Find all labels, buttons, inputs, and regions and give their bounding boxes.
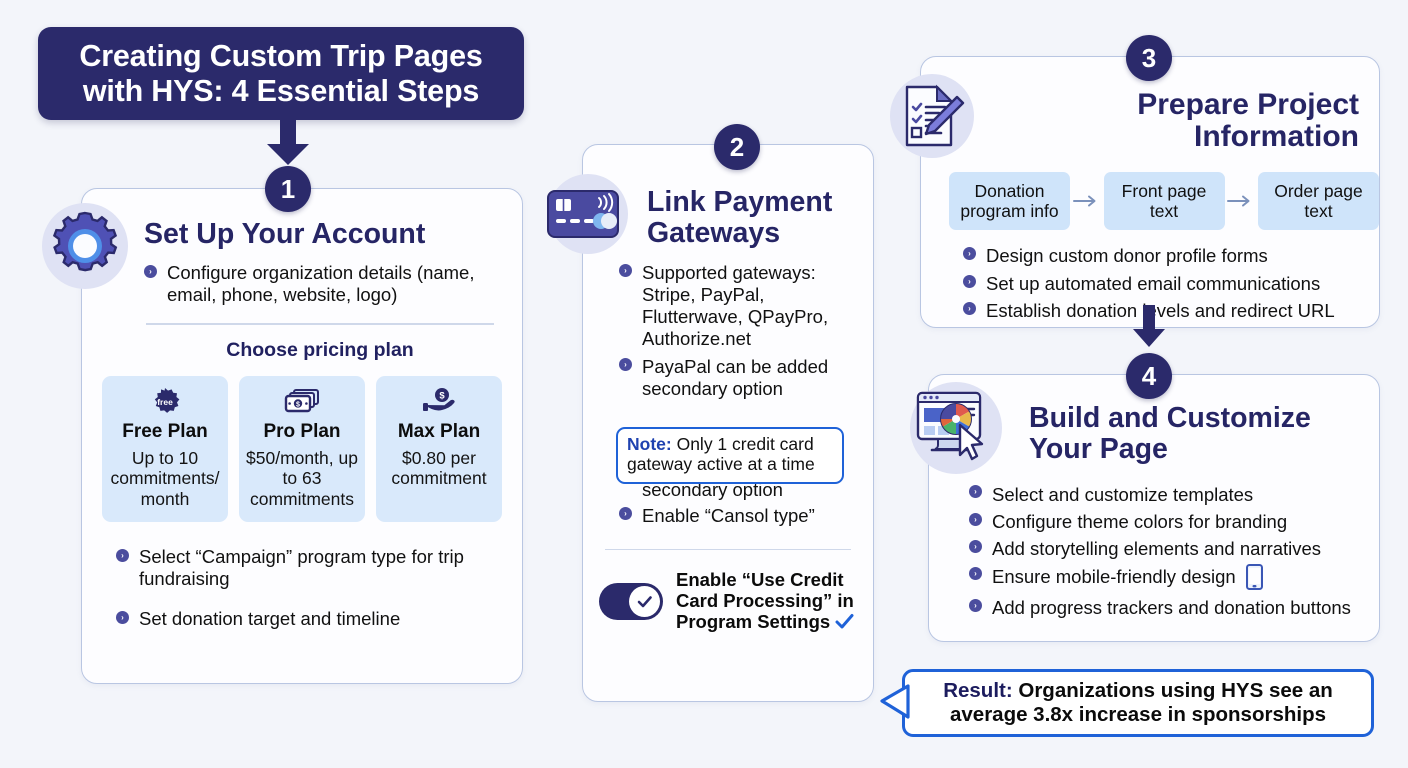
note-box: Note: Only 1 credit card gateway active … bbox=[616, 427, 844, 484]
step-4-title-line-1: Build and Customize bbox=[1029, 402, 1311, 434]
list-item: › Supported gateways: Stripe, PayPal, Fl… bbox=[619, 262, 861, 350]
bullet-chevron-icon: › bbox=[969, 599, 982, 612]
infographic-root: Creating Custom Trip Pages with HYS: 4 E… bbox=[0, 0, 1408, 768]
bullet-chevron-icon: › bbox=[969, 485, 982, 498]
bullet-text: Add storytelling elements and narratives bbox=[992, 538, 1321, 559]
title-line-1: Creating Custom Trip Pages bbox=[79, 39, 482, 73]
step-3-number-badge: 3 bbox=[1126, 35, 1172, 81]
list-item: › Set donation target and timeline bbox=[116, 608, 492, 630]
plan-desc: $0.80 per commitment bbox=[380, 448, 498, 489]
bullet-text: Design custom donor profile forms bbox=[986, 245, 1268, 266]
list-item: › Enable “Cansol type” bbox=[619, 505, 861, 527]
list-item: › Design custom donor profile forms bbox=[963, 244, 1363, 268]
step-1-card: Set Up Your Account › Configure organiza… bbox=[81, 188, 523, 684]
mobile-phone-icon bbox=[1246, 564, 1263, 590]
bullet-text: PayaPal can be added secondary option bbox=[642, 356, 828, 399]
bullet-chevron-icon: › bbox=[116, 549, 129, 562]
bullet-chevron-icon: › bbox=[963, 302, 976, 315]
step-3-title: Prepare Project Information bbox=[987, 89, 1359, 154]
toggle-label: Enable “Use Credit Card Processing” in P… bbox=[676, 570, 854, 633]
step-2-card: Link Payment Gateways › Supported gatewa… bbox=[582, 144, 874, 702]
plan-desc: Up to 10 commitments/ month bbox=[106, 448, 224, 509]
step-2-number: 2 bbox=[730, 132, 744, 163]
step-1-number-badge: 1 bbox=[265, 166, 311, 212]
list-item: › Add progress trackers and donation but… bbox=[969, 596, 1365, 620]
step-3-to-4-down-arrow-icon bbox=[1131, 305, 1167, 349]
title-down-arrow-icon bbox=[263, 118, 313, 166]
step-4-title-line-2: Your Page bbox=[1029, 433, 1168, 465]
gear-icon bbox=[42, 203, 128, 289]
note-text: Note: Only 1 credit card gateway active … bbox=[627, 435, 833, 475]
list-item: › Select “Campaign” program type for tri… bbox=[116, 546, 492, 590]
title-line-2: with HYS: 4 Essential Steps bbox=[83, 74, 479, 108]
bullet-text: Select and customize templates bbox=[992, 484, 1253, 505]
bullet-text: Supported gateways: Stripe, PayPal, Flut… bbox=[642, 262, 828, 349]
list-item: › Set up automated email communications bbox=[963, 272, 1363, 296]
step-3-number: 3 bbox=[1142, 43, 1156, 74]
plan-card-free[interactable]: free Free Plan Up to 10 commitments/ mon… bbox=[102, 376, 228, 522]
bullet-text: Enable “Cansol type” bbox=[642, 505, 815, 526]
plan-name: Free Plan bbox=[106, 421, 224, 443]
chip-donation-program-info[interactable]: Donation program info bbox=[949, 172, 1070, 231]
step-1-footer-bullets: › Select “Campaign” program type for tri… bbox=[116, 546, 492, 631]
bullet-text: Select “Campaign” program type for trip … bbox=[139, 546, 464, 589]
result-banner-tail-icon bbox=[880, 684, 910, 724]
chip-label: Donation program info bbox=[960, 181, 1058, 221]
step-2-top-bullets: › Supported gateways: Stripe, PayPal, Fl… bbox=[619, 262, 861, 400]
flow-arrow-2-icon bbox=[1225, 194, 1259, 208]
step-1-title: Set Up Your Account bbox=[144, 219, 496, 250]
plan-desc: $50/month, up to 63 commitments bbox=[243, 448, 361, 509]
bullet-chevron-icon: › bbox=[619, 358, 632, 371]
bullet-text: Ensure mobile-friendly design bbox=[992, 566, 1236, 587]
bullet-chevron-icon: › bbox=[963, 275, 976, 288]
step-1-divider-top bbox=[146, 323, 494, 325]
bullet-chevron-icon: › bbox=[619, 264, 632, 277]
bullet-text: Configure organization details (name, em… bbox=[167, 262, 474, 305]
plan-card-pro[interactable]: $ Pro Plan $50/month, up to 63 commitmen… bbox=[239, 376, 365, 522]
bullet-chevron-icon: › bbox=[969, 540, 982, 553]
list-item: › Ensure mobile-friendly design bbox=[969, 564, 1365, 590]
bullet-text: Set up automated email communications bbox=[986, 273, 1320, 294]
chip-label: Order page text bbox=[1274, 181, 1363, 221]
bullet-chevron-icon: › bbox=[969, 513, 982, 526]
plan-name: Pro Plan bbox=[243, 421, 361, 443]
svg-text:$: $ bbox=[439, 390, 445, 401]
step-1-number: 1 bbox=[281, 174, 295, 205]
monitor-chart-cursor-icon bbox=[910, 382, 1002, 474]
step-3-card: Prepare Project Information Donation pro… bbox=[920, 56, 1380, 328]
step-2-title: Link Payment Gateways bbox=[647, 187, 859, 249]
bullet-chevron-icon: › bbox=[963, 247, 976, 260]
step-1-intro-bullets: › Configure organization details (name, … bbox=[144, 262, 496, 306]
step-4-number-badge: 4 bbox=[1126, 353, 1172, 399]
list-item: › Configure theme colors for branding bbox=[969, 510, 1365, 534]
result-text: Result: Organizations using HYS see an a… bbox=[917, 679, 1359, 726]
step-4-bullets: › Select and customize templates › Confi… bbox=[969, 483, 1365, 620]
step-2-number-badge: 2 bbox=[714, 124, 760, 170]
result-banner: Result: Organizations using HYS see an a… bbox=[902, 669, 1374, 737]
hand-dollar-icon: $ bbox=[380, 386, 498, 418]
credit-card-icon bbox=[548, 174, 628, 254]
checklist-pencil-icon bbox=[890, 74, 974, 158]
pricing-plans: free Free Plan Up to 10 commitments/ mon… bbox=[102, 376, 502, 522]
free-badge-icon: free bbox=[106, 386, 224, 418]
step-2-divider bbox=[605, 549, 851, 551]
title-banner: Creating Custom Trip Pages with HYS: 4 E… bbox=[38, 27, 524, 120]
bullet-chevron-icon: › bbox=[116, 611, 129, 624]
result-label: Result: bbox=[943, 679, 1012, 702]
list-item: › Add storytelling elements and narrativ… bbox=[969, 537, 1365, 561]
bullet-text: Set donation target and timeline bbox=[139, 608, 400, 629]
toggle-label-line-2: Card Processing” in bbox=[676, 590, 854, 611]
step-3-flow-chips: Donation program info Front page text Or… bbox=[949, 172, 1379, 231]
bullet-text: Add progress trackers and donation butto… bbox=[992, 597, 1351, 618]
step-2-title-line-1: Link Payment bbox=[647, 186, 832, 218]
svg-text:free: free bbox=[157, 397, 173, 407]
pricing-plan-label: Choose pricing plan bbox=[144, 339, 496, 362]
page-title: Creating Custom Trip Pages with HYS: 4 E… bbox=[79, 39, 482, 108]
note-label: Note: bbox=[627, 434, 672, 454]
toggle-label-line-1: Enable “Use Credit bbox=[676, 569, 844, 590]
step-2-title-line-2: Gateways bbox=[647, 217, 780, 249]
money-bills-icon: $ bbox=[243, 386, 361, 418]
toggle-label-line-3: Program Settings bbox=[676, 611, 830, 632]
list-item: › Select and customize templates bbox=[969, 483, 1365, 507]
svg-text:$: $ bbox=[296, 401, 300, 408]
credit-card-processing-toggle[interactable] bbox=[599, 583, 663, 620]
bullet-chevron-icon: › bbox=[969, 567, 982, 580]
bullet-chevron-icon: › bbox=[144, 265, 157, 278]
toggle-check-icon bbox=[629, 586, 660, 617]
bullet-chevron-icon: › bbox=[619, 507, 632, 520]
list-item: › Configure organization details (name, … bbox=[144, 262, 496, 306]
plan-card-max[interactable]: $ Max Plan $0.80 per commitment bbox=[376, 376, 502, 522]
chip-front-page-text[interactable]: Front page text bbox=[1104, 172, 1225, 231]
bullet-text: Configure theme colors for branding bbox=[992, 511, 1287, 532]
chip-order-page-text[interactable]: Order page text bbox=[1258, 172, 1379, 231]
check-icon bbox=[835, 613, 854, 630]
chip-label: Front page text bbox=[1122, 181, 1207, 221]
step-4-title: Build and Customize Your Page bbox=[1029, 403, 1363, 465]
list-item: › PayaPal can be added secondary option bbox=[619, 356, 861, 400]
flow-arrow-1-icon bbox=[1070, 194, 1104, 208]
plan-name: Max Plan bbox=[380, 421, 498, 443]
step-4-number: 4 bbox=[1142, 361, 1156, 392]
credit-card-processing-toggle-row[interactable]: Enable “Use Credit Card Processing” in P… bbox=[599, 570, 863, 633]
